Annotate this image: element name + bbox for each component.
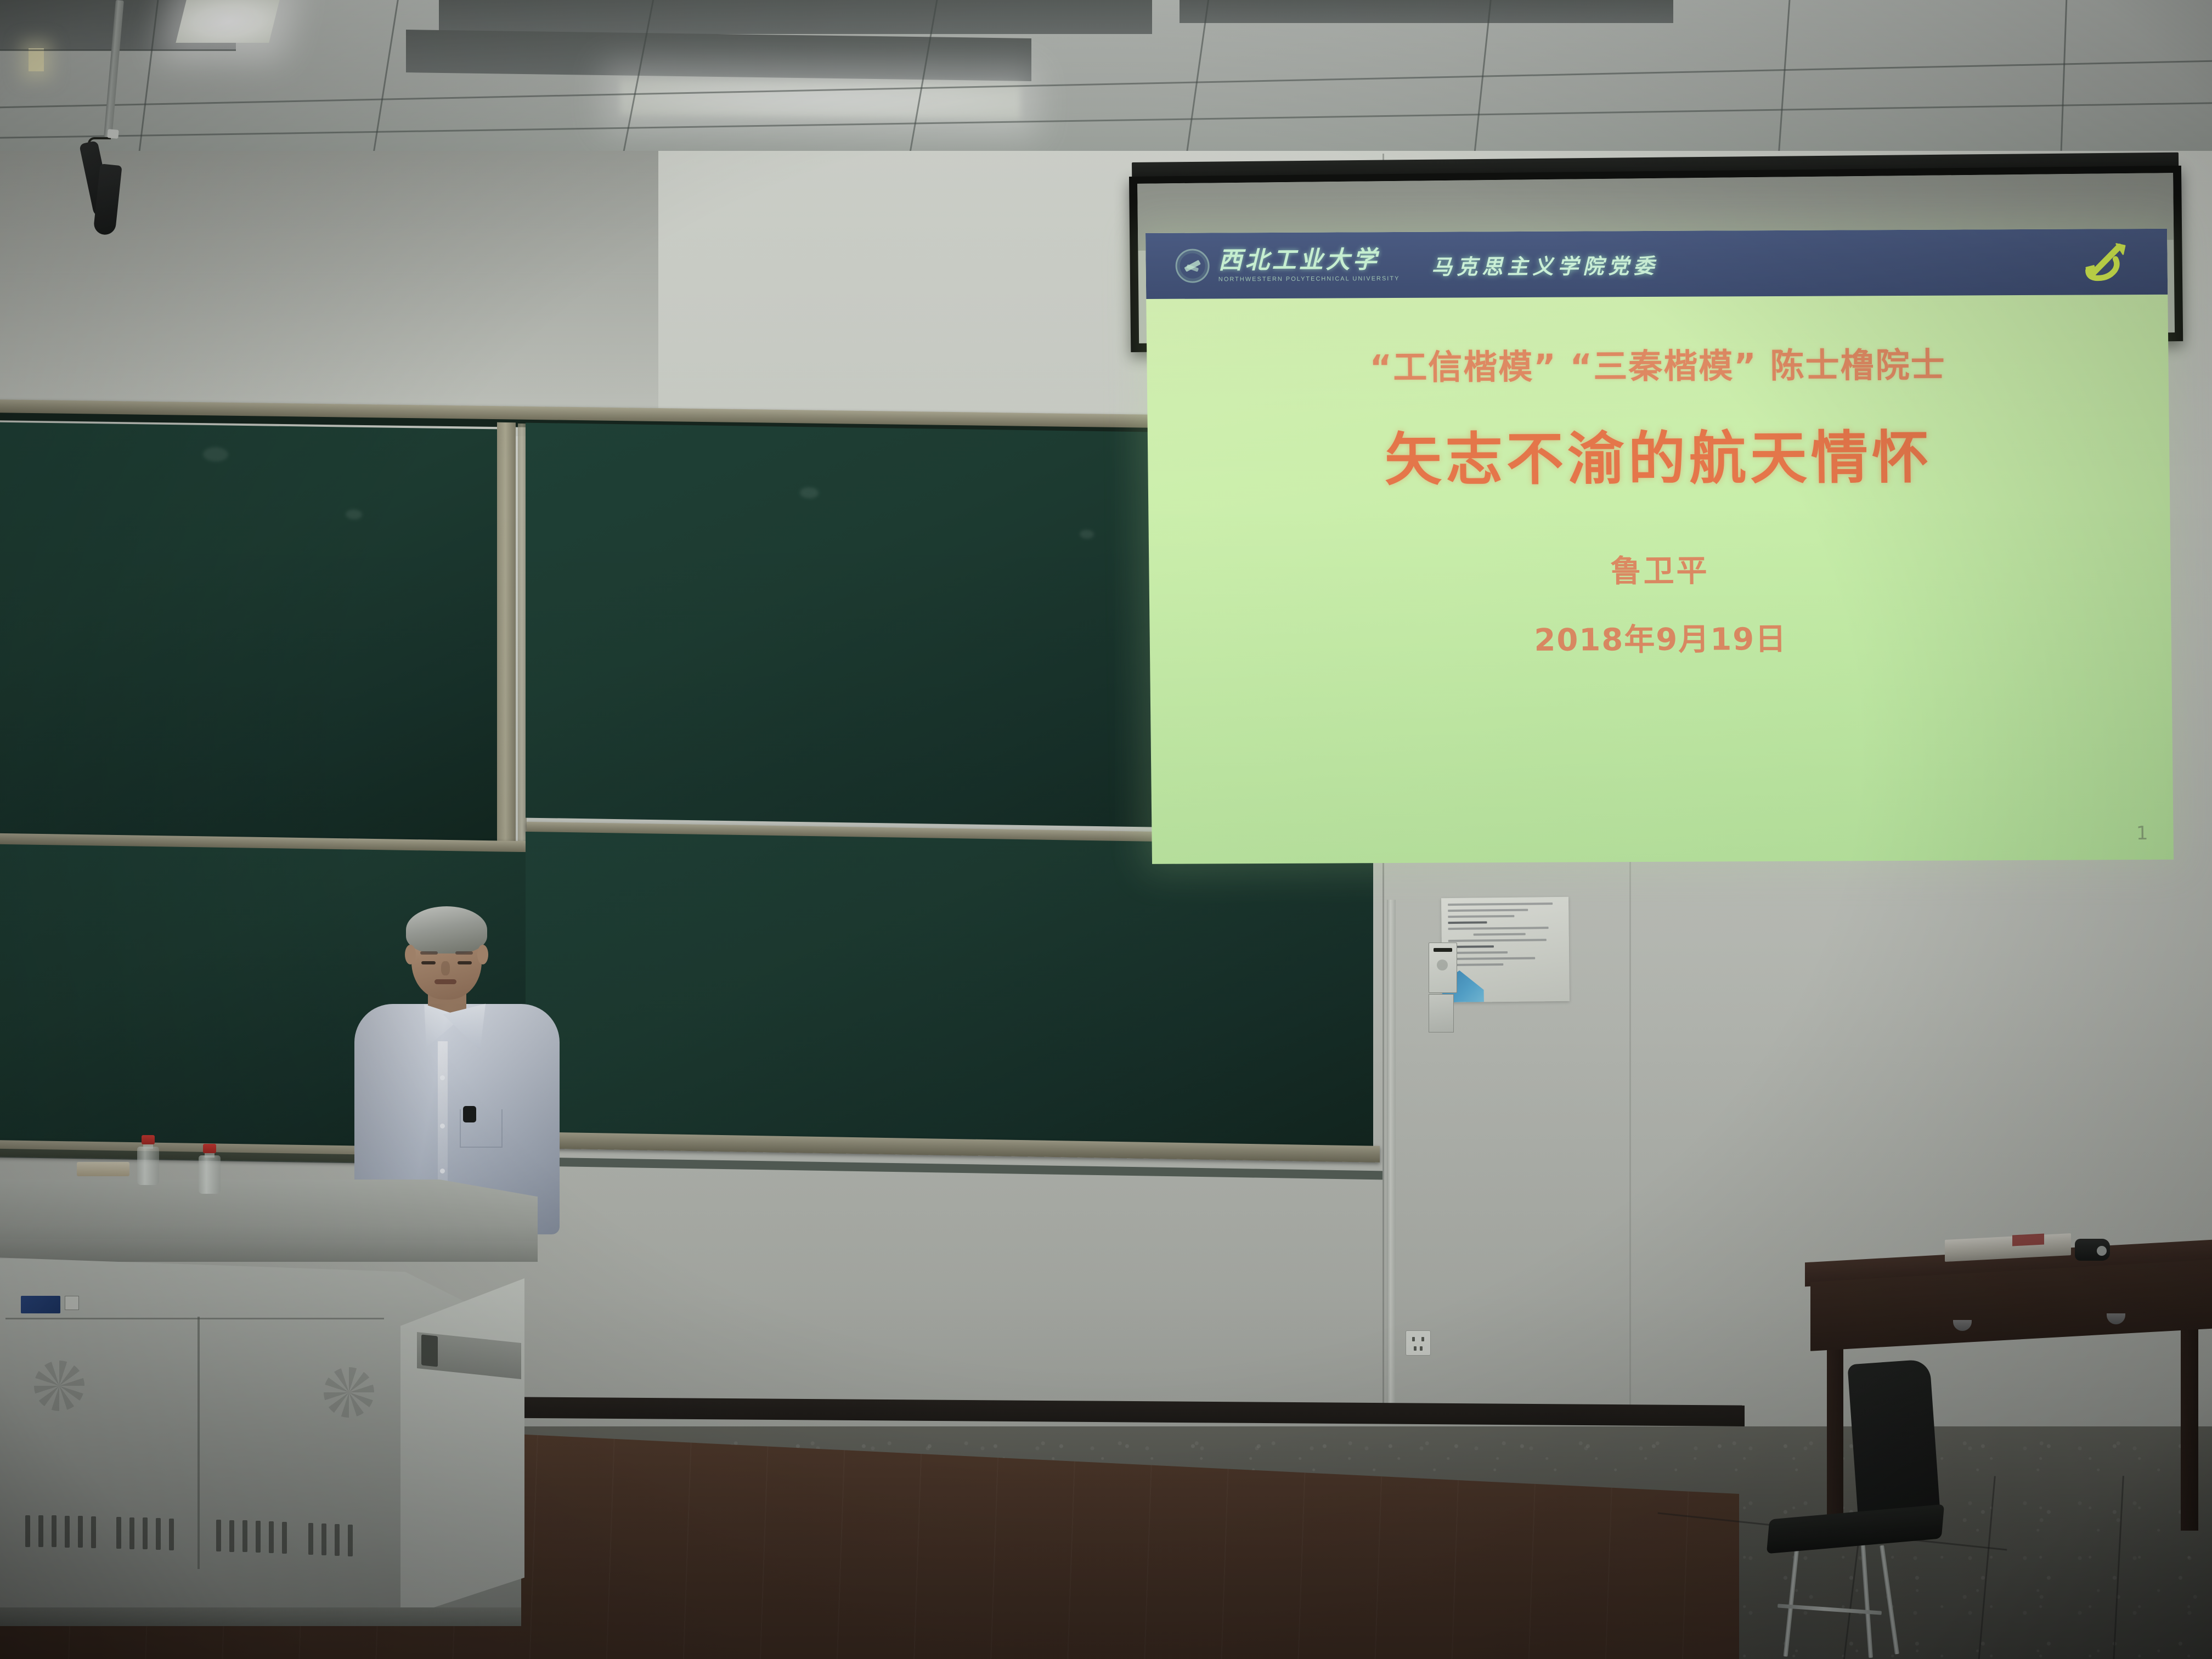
lectern-drawer-handle[interactable] <box>421 1334 438 1367</box>
suspended-tile-ceiling <box>0 0 2212 165</box>
slide-speaker-name: 鲁卫平 <box>1149 544 2171 593</box>
presentation-slide: 西北工业大学 NORTHWESTERN POLYTECHNICAL UNIVER… <box>1145 229 2174 864</box>
presenter-eyebrow <box>420 951 438 955</box>
slide-date: 2018年9月19日 <box>1149 613 2171 662</box>
wall-conduit <box>1387 900 1396 1404</box>
presenter-eye <box>458 961 472 964</box>
slide-page-number: 1 <box>2136 822 2148 844</box>
presenter-mouth <box>435 979 456 984</box>
ceiling-grid-line <box>0 60 2212 108</box>
wall-control-panel-lower[interactable] <box>1429 994 1454 1032</box>
ceiling-beam <box>1180 0 1673 23</box>
ceiling-grid-line <box>2060 0 2067 165</box>
lectern-asset-tag <box>65 1296 79 1310</box>
object-on-podium <box>77 1162 129 1176</box>
lecture-hall-photo: 西北工业大学 NORTHWESTERN POLYTECHNICAL UNIVER… <box>0 0 2212 1659</box>
ceiling-grid-line <box>371 0 399 165</box>
slide-subtitle: “工信楷模” “三秦楷模” 陈士橹院士 <box>1147 336 2169 390</box>
university-name-cn: 西北工业大学 <box>1218 248 1400 273</box>
presenter-ear <box>477 945 488 964</box>
lectern-side-panel <box>400 1278 524 1618</box>
chalkboard-panel-lower-right <box>526 832 1373 1158</box>
nwpu-emblem-icon <box>1175 249 1210 283</box>
ceiling-beam <box>406 30 1031 81</box>
lectern-desktop <box>0 1180 538 1245</box>
ceiling-grid-line <box>0 102 2212 138</box>
slide-banner: 西北工业大学 NORTHWESTERN POLYTECHNICAL UNIVER… <box>1145 229 2168 299</box>
lectern-base <box>0 1607 521 1626</box>
lectern-asset-label <box>21 1296 60 1313</box>
department-name: 马克思主义学院党委 <box>1431 249 1659 280</box>
presenter-nose <box>441 961 450 975</box>
university-name-en: NORTHWESTERN POLYTECHNICAL UNIVERSITY <box>1218 275 1400 283</box>
presenter-eye <box>421 961 436 964</box>
university-branding: 西北工业大学 NORTHWESTERN POLYTECHNICAL UNIVER… <box>1175 248 1400 283</box>
desk-leg <box>2181 1311 2198 1531</box>
ceiling-light-fixture <box>176 0 279 43</box>
wall-seam <box>1629 845 1631 1415</box>
ventilation-fan-grille <box>34 1361 84 1411</box>
microphone-mount <box>107 129 119 139</box>
ceiling-grid-line <box>1472 0 1492 165</box>
water-bottle <box>199 1144 221 1194</box>
ventilation-fan-grille <box>324 1367 374 1418</box>
paper-red-marking <box>2012 1233 2044 1246</box>
wall-control-panel[interactable] <box>1429 943 1457 993</box>
ceiling-light-glow <box>620 79 1020 120</box>
lectern-door-seam <box>5 1318 384 1319</box>
presenter-ear <box>405 945 416 964</box>
hammer-sickle-icon <box>2083 241 2131 283</box>
power-outlet <box>1406 1330 1431 1356</box>
multimedia-lectern <box>0 1180 532 1618</box>
water-bottle <box>137 1136 159 1185</box>
lectern-door-seam <box>198 1317 200 1569</box>
chalkboard-panel-left <box>0 422 499 852</box>
ceiling-grid-line <box>1778 0 1791 165</box>
slide-title: 矢志不渝的航天情怀 <box>1147 410 2170 497</box>
lectern-front-lip <box>0 1239 538 1262</box>
wall-posted-notice <box>1441 897 1570 1002</box>
ceiling-light-fixture <box>29 48 44 71</box>
ceiling-beam <box>439 0 1152 34</box>
presenter-eyebrow <box>455 951 473 955</box>
black-device-on-desk <box>2075 1239 2110 1261</box>
desk-leg <box>1827 1322 1843 1542</box>
presenter-hair <box>406 906 487 953</box>
chalkboard-panel-divider <box>497 422 516 856</box>
